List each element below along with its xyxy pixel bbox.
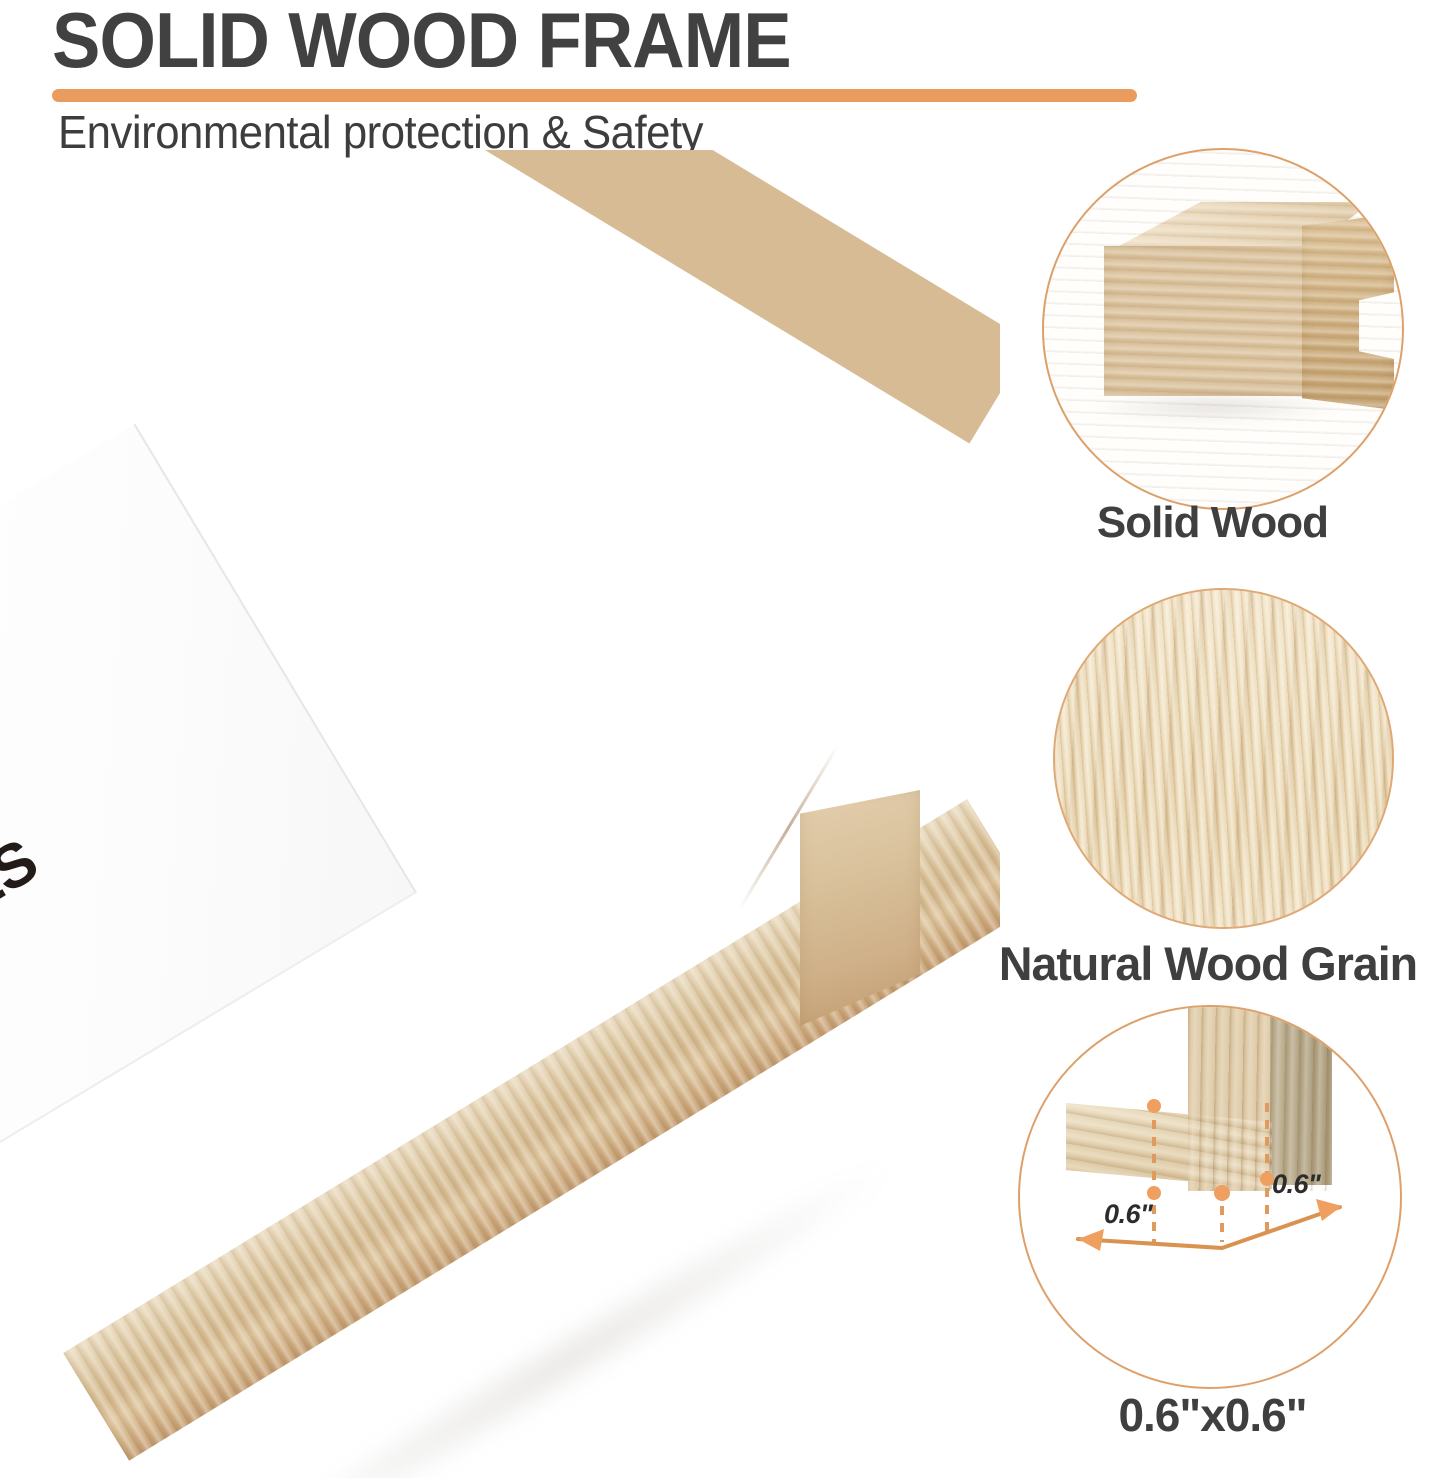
frame-end-grain-face — [800, 790, 920, 1026]
mat-board — [0, 424, 417, 1224]
callout-wood-grain-circle — [1053, 588, 1394, 929]
wood-grain-texture — [1053, 588, 1394, 929]
callout-label-dimensions: 0.6"x0.6" — [980, 1388, 1445, 1442]
dimension-label-depth: 0.6" — [1272, 1169, 1320, 1200]
callout-label-wood-grain: Natural Wood Grain — [970, 936, 1445, 991]
main-frame-photo: ES — [0, 150, 1000, 1478]
callout-solid-wood-circle — [1042, 148, 1404, 510]
product-feature-image: SOLID WOOD FRAME Environmental protectio… — [0, 0, 1445, 1478]
callout-dimensions-circle: 0.6" 0.6" — [1018, 1005, 1402, 1389]
frame-rail-top — [63, 150, 1000, 443]
title-underline-rule — [52, 89, 1137, 102]
dimension-annotation-layer — [1020, 1007, 1400, 1387]
wood-profile-shadow — [1090, 394, 1340, 420]
callout-label-solid-wood: Solid Wood — [980, 498, 1445, 548]
dimension-label-width: 0.6" — [1104, 1199, 1152, 1230]
page-title: SOLID WOOD FRAME — [52, 0, 1112, 82]
wood-profile-grain-texture — [1044, 150, 1402, 508]
